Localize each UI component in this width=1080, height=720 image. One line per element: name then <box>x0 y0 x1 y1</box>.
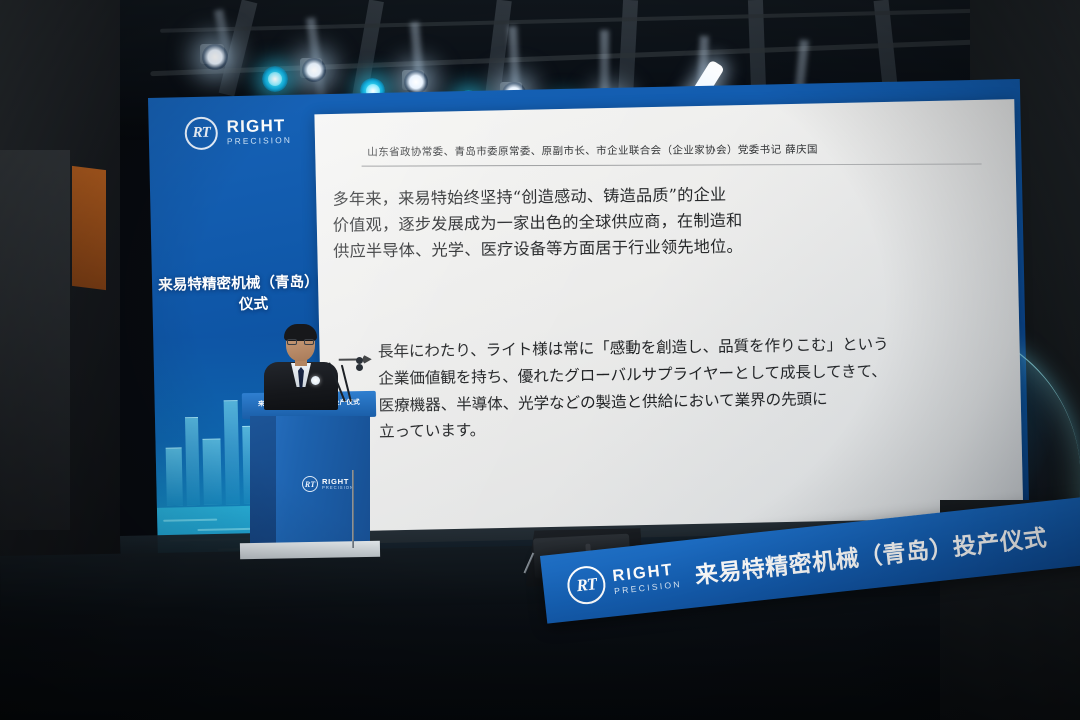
spotlight <box>404 70 428 94</box>
slide-chinese-paragraph: 多年来，来易特始终坚持“创造感动、铸造品质”的企业 价值观，逐步发展成为一家出色… <box>332 179 1005 266</box>
brand-tagline: PRECISION <box>227 134 292 148</box>
podium-logo-name: RIGHT <box>322 478 354 486</box>
brand-name: RIGHT <box>226 116 291 135</box>
slide-header-line: 山东省政协常委、青岛市委原常委、原副市长、市企业联合会（企业家协会）党委书记 薛… <box>367 141 967 160</box>
microphone-head-icon <box>356 364 363 371</box>
banner-logo: RT RIGHT PRECISION <box>565 556 682 606</box>
podium-logo-tagline: PRECISION <box>322 485 354 490</box>
right-precision-logo: RT RIGHT PRECISION <box>184 115 292 150</box>
event-stage-photo: RT RIGHT PRECISION 来易特精密机械（青岛）投产仪式 来易特精密… <box>0 0 1080 720</box>
led-wash-light <box>262 66 288 92</box>
rt-monogram-icon: RT <box>565 564 607 606</box>
rt-monogram-icon: RT <box>302 476 318 492</box>
podium-logo: RT RIGHT PRECISION <box>302 476 354 492</box>
spotlight <box>302 58 326 82</box>
glasses-icon <box>287 339 314 345</box>
microphone-stand <box>352 470 354 548</box>
microphone-head-icon <box>356 357 363 364</box>
speaker-lapel-badge <box>311 376 320 385</box>
slide-divider-rule <box>362 164 982 167</box>
monogram-letters: RT <box>303 477 317 491</box>
presentation-slide: 山东省政协常委、青岛市委原常委、原副市长、市企业联合会（企业家协会）党委书记 薛… <box>314 99 1023 544</box>
monogram-letters: RT <box>568 566 605 603</box>
monogram-letters: RT <box>186 119 216 149</box>
rt-monogram-icon: RT <box>184 116 218 150</box>
wall-orange-accent <box>72 166 106 290</box>
slide-japanese-paragraph: 長年にわたり、ライト様は常に「感動を創造し、品質を作りこむ」という 企業価値観を… <box>378 329 1020 446</box>
wall-panel-left <box>0 150 70 530</box>
spotlight <box>202 44 228 70</box>
podium-base <box>240 541 380 559</box>
podium-side-panel <box>250 416 276 544</box>
